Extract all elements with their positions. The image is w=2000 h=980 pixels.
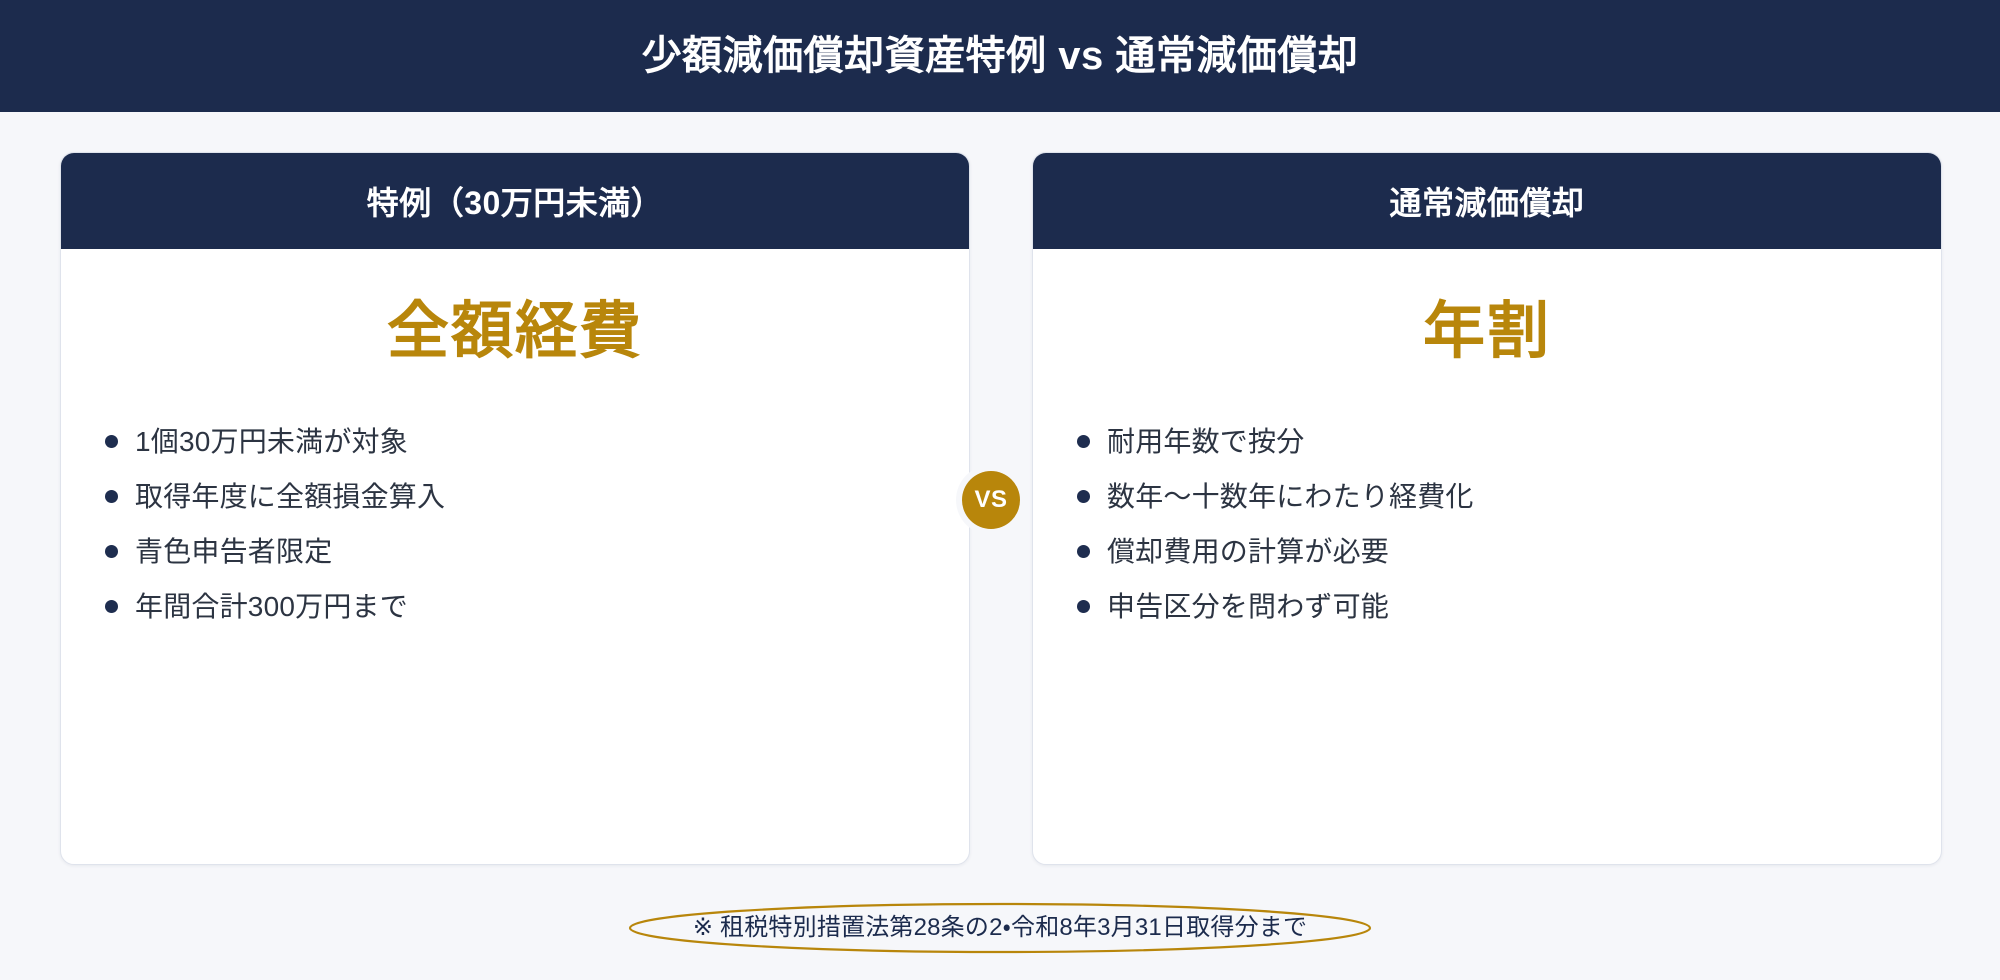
bullet-dot-icon [105, 435, 118, 448]
list-item: 年間合計300万円まで [105, 589, 939, 626]
bullet-dot-icon [1077, 545, 1090, 558]
bullet-dot-icon [1077, 435, 1090, 448]
bullet-label: 申告区分を問わず可能 [1107, 589, 1389, 626]
bullet-list-left: 1個30万円未満が対象 取得年度に全額損金算入 青色申告者限定 年間合計300万… [105, 424, 939, 644]
card-headline-left: 全額経費 [61, 301, 969, 363]
vs-badge-label: VS [974, 488, 1007, 512]
bullet-label: 青色申告者限定 [135, 534, 332, 571]
bullet-label: 年間合計300万円まで [135, 589, 408, 626]
list-item: 数年〜十数年にわたり経費化 [1077, 479, 1911, 516]
vs-badge: VS [962, 471, 1020, 529]
card-body-right: 年割 耐用年数で按分 数年〜十数年にわたり経費化 償却費用の計算が必要 [1033, 249, 1941, 864]
bullet-label: 1個30万円未満が対象 [135, 424, 408, 461]
bullet-dot-icon [105, 545, 118, 558]
comparison-card-special-exception: 特例（30万円未満） 全額経費 1個30万円未満が対象 取得年度に全額損金算入 [60, 152, 970, 865]
bullet-dot-icon [1077, 490, 1090, 503]
bullet-dot-icon [1077, 600, 1090, 613]
card-header-left: 特例（30万円未満） [61, 153, 969, 249]
bullet-label: 数年〜十数年にわたり経費化 [1107, 479, 1474, 516]
bullet-dot-icon [105, 490, 118, 503]
bullet-label: 取得年度に全額損金算入 [135, 479, 445, 516]
card-header-right: 通常減価償却 [1033, 153, 1941, 249]
comparison-infographic: 少額減価償却資産特例 vs 通常減価償却 特例（30万円未満） 全額経費 1個3… [0, 0, 2000, 980]
header-bar: 少額減価償却資産特例 vs 通常減価償却 [0, 0, 2000, 112]
footer-note-label: ※ 租税特別措置法第28条の2・令和8年3月31日取得分まで [693, 914, 1307, 943]
bullet-label: 償却費用の計算が必要 [1107, 534, 1389, 571]
card-header-label-right: 通常減価償却 [1389, 178, 1584, 224]
list-item: 耐用年数で按分 [1077, 424, 1911, 461]
footer-note: ※ 租税特別措置法第28条の2・令和8年3月31日取得分まで [628, 902, 1372, 954]
page-title: 少額減価償却資産特例 vs 通常減価償却 [642, 32, 1359, 80]
card-header-label-left: 特例（30万円未満） [367, 178, 664, 224]
bullet-list-right: 耐用年数で按分 数年〜十数年にわたり経費化 償却費用の計算が必要 申告区分を問わ… [1077, 424, 1911, 644]
list-item: 申告区分を問わず可能 [1077, 589, 1911, 626]
bullet-label: 耐用年数で按分 [1107, 424, 1304, 461]
card-headline-right: 年割 [1033, 301, 1941, 363]
list-item: 取得年度に全額損金算入 [105, 479, 939, 516]
list-item: 1個30万円未満が対象 [105, 424, 939, 461]
card-body-left: 全額経費 1個30万円未満が対象 取得年度に全額損金算入 青色申告者限定 [61, 249, 969, 864]
list-item: 償却費用の計算が必要 [1077, 534, 1911, 571]
bullet-dot-icon [105, 600, 118, 613]
comparison-card-standard-depreciation: 通常減価償却 年割 耐用年数で按分 数年〜十数年にわたり経費化 償却費用の計算 [1032, 152, 1942, 865]
list-item: 青色申告者限定 [105, 534, 939, 571]
